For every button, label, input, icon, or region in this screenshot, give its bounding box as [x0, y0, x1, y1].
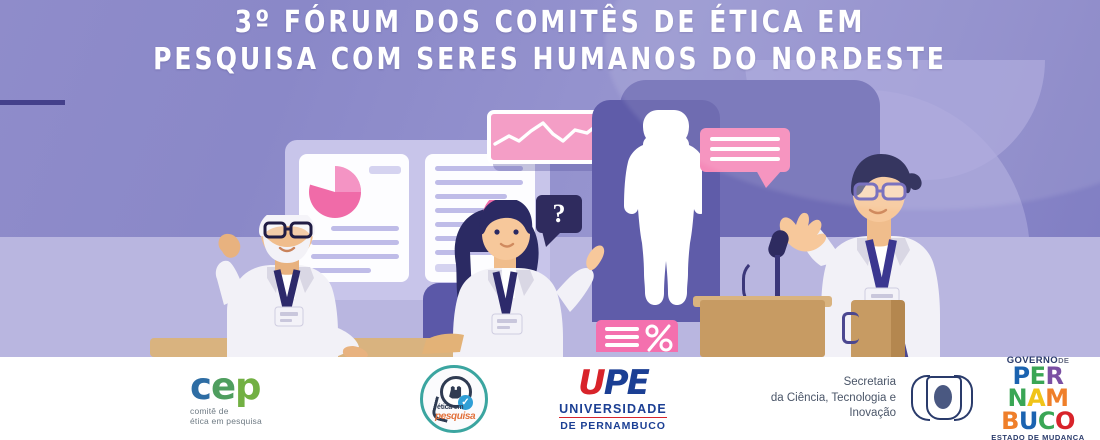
cep-tagline-line-1: comitê de [190, 406, 370, 416]
sponsor-logo-bar: cep comitê de ética em pesquisa ✓ ética … [0, 357, 1100, 440]
pernambuco-letter: C [1038, 407, 1055, 435]
cep-tagline-line-2: ética em pesquisa [190, 416, 370, 426]
cep-letter-e: e [211, 365, 235, 408]
secretaria-line-1: Secretaria [726, 375, 896, 391]
human-silhouette-icon [614, 108, 702, 316]
whiteboard-line [369, 166, 401, 174]
logo-etica-em-pesquisa: ✓ ética em pesquisa [420, 365, 488, 433]
cep-wordmark: cep [190, 371, 370, 403]
briefcase-side [891, 300, 905, 357]
podium [700, 300, 825, 357]
upe-letter-u: U [578, 363, 604, 403]
governo-footer: ESTADO DE MUDANÇA [982, 434, 1094, 440]
upe-line-1: UNIVERSIDADE [559, 402, 667, 418]
whiteboard-line [435, 166, 523, 171]
secretaria-line-3: Inovação [726, 406, 896, 422]
pernambuco-letter: O [1055, 407, 1075, 435]
shield-icon [926, 376, 962, 420]
cep-letter-p: p [235, 365, 261, 408]
shield-emblem [934, 385, 952, 409]
corner-accent-line [0, 0, 65, 105]
pernambuco-letter: U [1019, 407, 1038, 435]
upe-letters-pe: PE [604, 363, 648, 403]
percent-icon [644, 323, 674, 353]
upe-wordmark: UPE [548, 366, 678, 400]
researcher-female [420, 200, 610, 357]
cep-letter-c: c [190, 365, 211, 408]
whiteboard-line [435, 194, 507, 199]
banner-stage: ? [0, 0, 1100, 357]
eep-text-bottom: pesquisa [435, 411, 475, 422]
logo-secretaria: Secretaria da Ciência, Tecnologia e Inov… [726, 375, 896, 422]
cep-tagline: comitê de ética em pesquisa [190, 406, 370, 427]
banner-headline: 3º FÓRUM DOS COMITÊS DE ÉTICA EM PESQUIS… [39, 6, 1062, 76]
researcher-senior-male [195, 215, 375, 357]
speech-bubble-pink [700, 128, 790, 172]
eep-text-top: ética em [437, 404, 463, 411]
pernambuco-row-3: BUCO [982, 410, 1094, 432]
secretaria-line-2: da Ciência, Tecnologia e [726, 391, 896, 407]
upe-line-2: DE PERNAMBUCO [548, 420, 678, 432]
pernambuco-letter: B [1001, 407, 1019, 435]
logo-upe: UPE UNIVERSIDADE DE PERNAMBUCO [548, 366, 678, 432]
logo-cep: cep comitê de ética em pesquisa [190, 371, 370, 427]
whiteboard-line [435, 180, 523, 185]
headline-line-1: 3º FÓRUM DOS COMITÊS DE ÉTICA EM [235, 5, 866, 40]
logo-governo-pernambuco: GOVERNODE PER NAM BUCO ESTADO DE MUDANÇA [982, 356, 1094, 440]
wall-blob-decoration-2 [745, 60, 1045, 180]
event-banner: ? [0, 0, 1100, 440]
headline-line-2: PESQUISA COM SERES HUMANOS DO NORDESTE [39, 43, 1062, 77]
brasao-pernambuco-icon [908, 368, 976, 430]
